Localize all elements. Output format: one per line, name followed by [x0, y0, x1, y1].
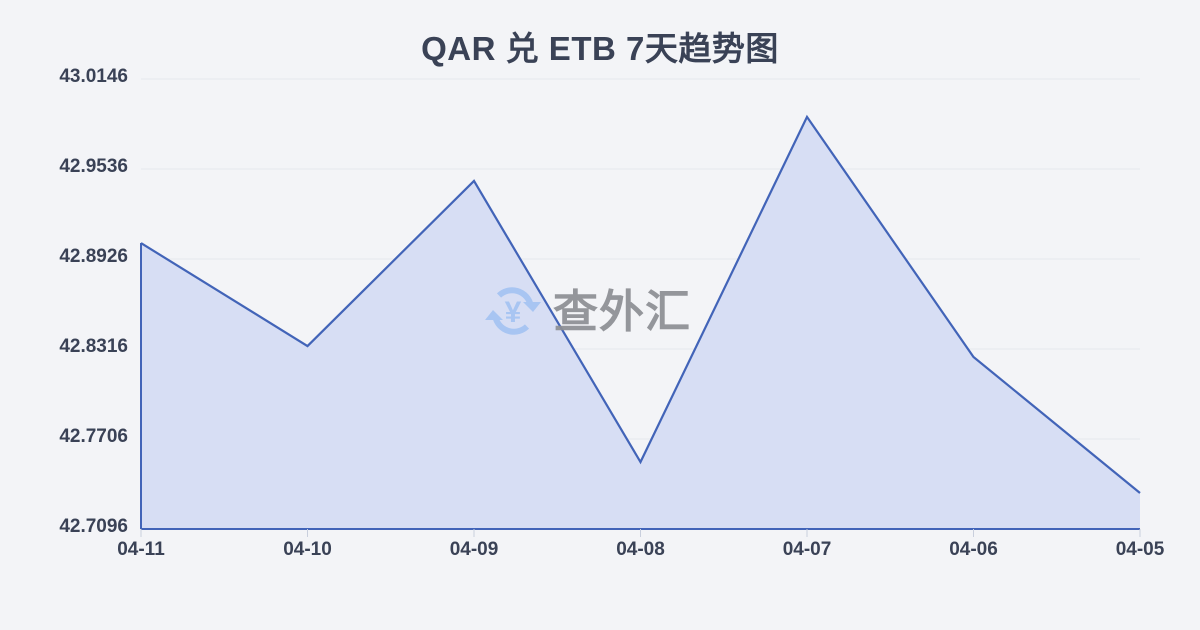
x-axis-ticks	[141, 529, 1140, 537]
y-axis-tick-label: 42.7096	[18, 516, 128, 538]
y-axis-tick-label: 42.8316	[18, 336, 128, 358]
x-axis-tick-label: 04-10	[238, 539, 378, 561]
x-axis-tick-label: 04-06	[904, 539, 1044, 561]
y-axis-tick-label: 42.8926	[18, 246, 128, 268]
x-axis-tick-label: 04-07	[737, 539, 877, 561]
area-fill	[141, 117, 1140, 529]
chart-page: QAR 兑 ETB 7天趋势图 42.709642.770642.831642.…	[0, 0, 1200, 630]
y-axis-tick-label: 42.7706	[18, 426, 128, 448]
x-axis-tick-label: 04-08	[571, 539, 711, 561]
x-axis-tick-label: 04-11	[71, 539, 211, 561]
y-axis-tick-label: 43.0146	[18, 66, 128, 88]
line-area-chart	[0, 0, 1200, 630]
x-axis-tick-label: 04-09	[404, 539, 544, 561]
y-axis-tick-label: 42.9536	[18, 156, 128, 178]
x-axis-tick-label: 04-05	[1070, 539, 1200, 561]
